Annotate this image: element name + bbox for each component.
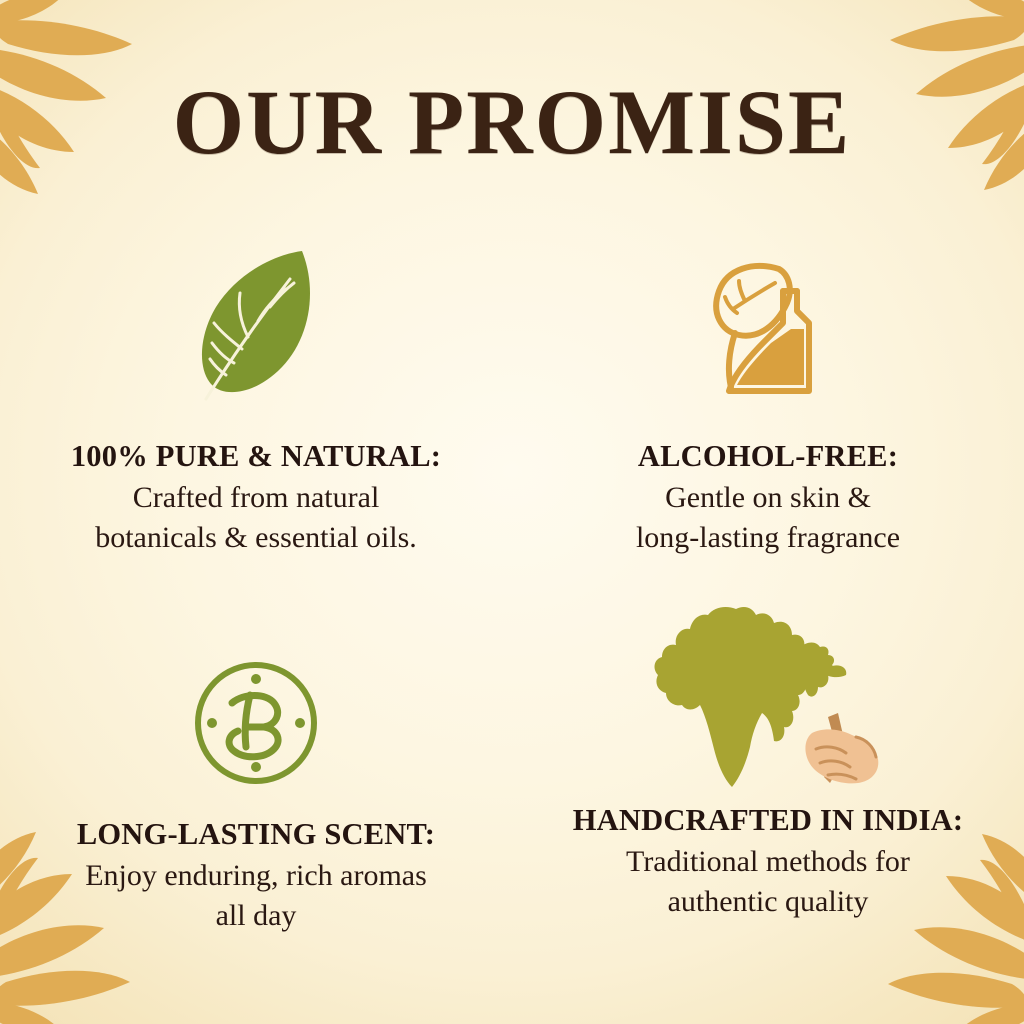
feature-description: Traditional methods for authentic qualit… [573, 842, 964, 922]
feature-description: Enjoy enduring, rich aromas all day [77, 856, 435, 936]
promise-graphic: OUR PROMISE [0, 0, 1024, 1024]
bottle-leaf-icon [705, 233, 831, 405]
feature-description: Crafted from natural botanicals & essent… [71, 478, 441, 558]
feature-description-line: botanicals & essential oils. [71, 518, 441, 558]
feature-description-line: Traditional methods for [573, 842, 964, 882]
emblem-monogram-icon [188, 623, 324, 791]
feature-item-handcrafted-india: HANDCRAFTED IN INDIA: Traditional method… [512, 605, 1024, 985]
feature-text-block: 100% PURE & NATURAL: Crafted from natura… [71, 439, 441, 558]
page-title: OUR PROMISE [0, 76, 1024, 168]
feature-heading: ALCOHOL-FREE: [636, 439, 900, 474]
feature-item-alcohol-free: ALCOHOL-FREE: Gentle on skin & long-last… [512, 225, 1024, 605]
feature-grid: 100% PURE & NATURAL: Crafted from natura… [0, 225, 1024, 985]
leaf-icon [190, 233, 322, 405]
feature-heading: LONG-LASTING SCENT: [77, 817, 435, 852]
feature-heading: 100% PURE & NATURAL: [71, 439, 441, 474]
feature-description-line: Crafted from natural [71, 478, 441, 518]
feature-description-line: Gentle on skin & [636, 478, 900, 518]
feature-description: Gentle on skin & long-lasting fragrance [636, 478, 900, 558]
feature-description-line: authentic quality [573, 882, 964, 922]
feature-description-line: Enjoy enduring, rich aromas [77, 856, 435, 896]
feature-text-block: HANDCRAFTED IN INDIA: Traditional method… [573, 803, 964, 922]
feature-item-long-lasting: LONG-LASTING SCENT: Enjoy enduring, rich… [0, 605, 512, 985]
feature-heading: HANDCRAFTED IN INDIA: [573, 803, 964, 838]
feature-item-pure-natural: 100% PURE & NATURAL: Crafted from natura… [0, 225, 512, 605]
feature-description-line: all day [77, 896, 435, 936]
feature-text-block: LONG-LASTING SCENT: Enjoy enduring, rich… [77, 817, 435, 936]
feature-description-line: long-lasting fragrance [636, 518, 900, 558]
india-map-hand-icon [652, 605, 884, 793]
feature-text-block: ALCOHOL-FREE: Gentle on skin & long-last… [636, 439, 900, 558]
